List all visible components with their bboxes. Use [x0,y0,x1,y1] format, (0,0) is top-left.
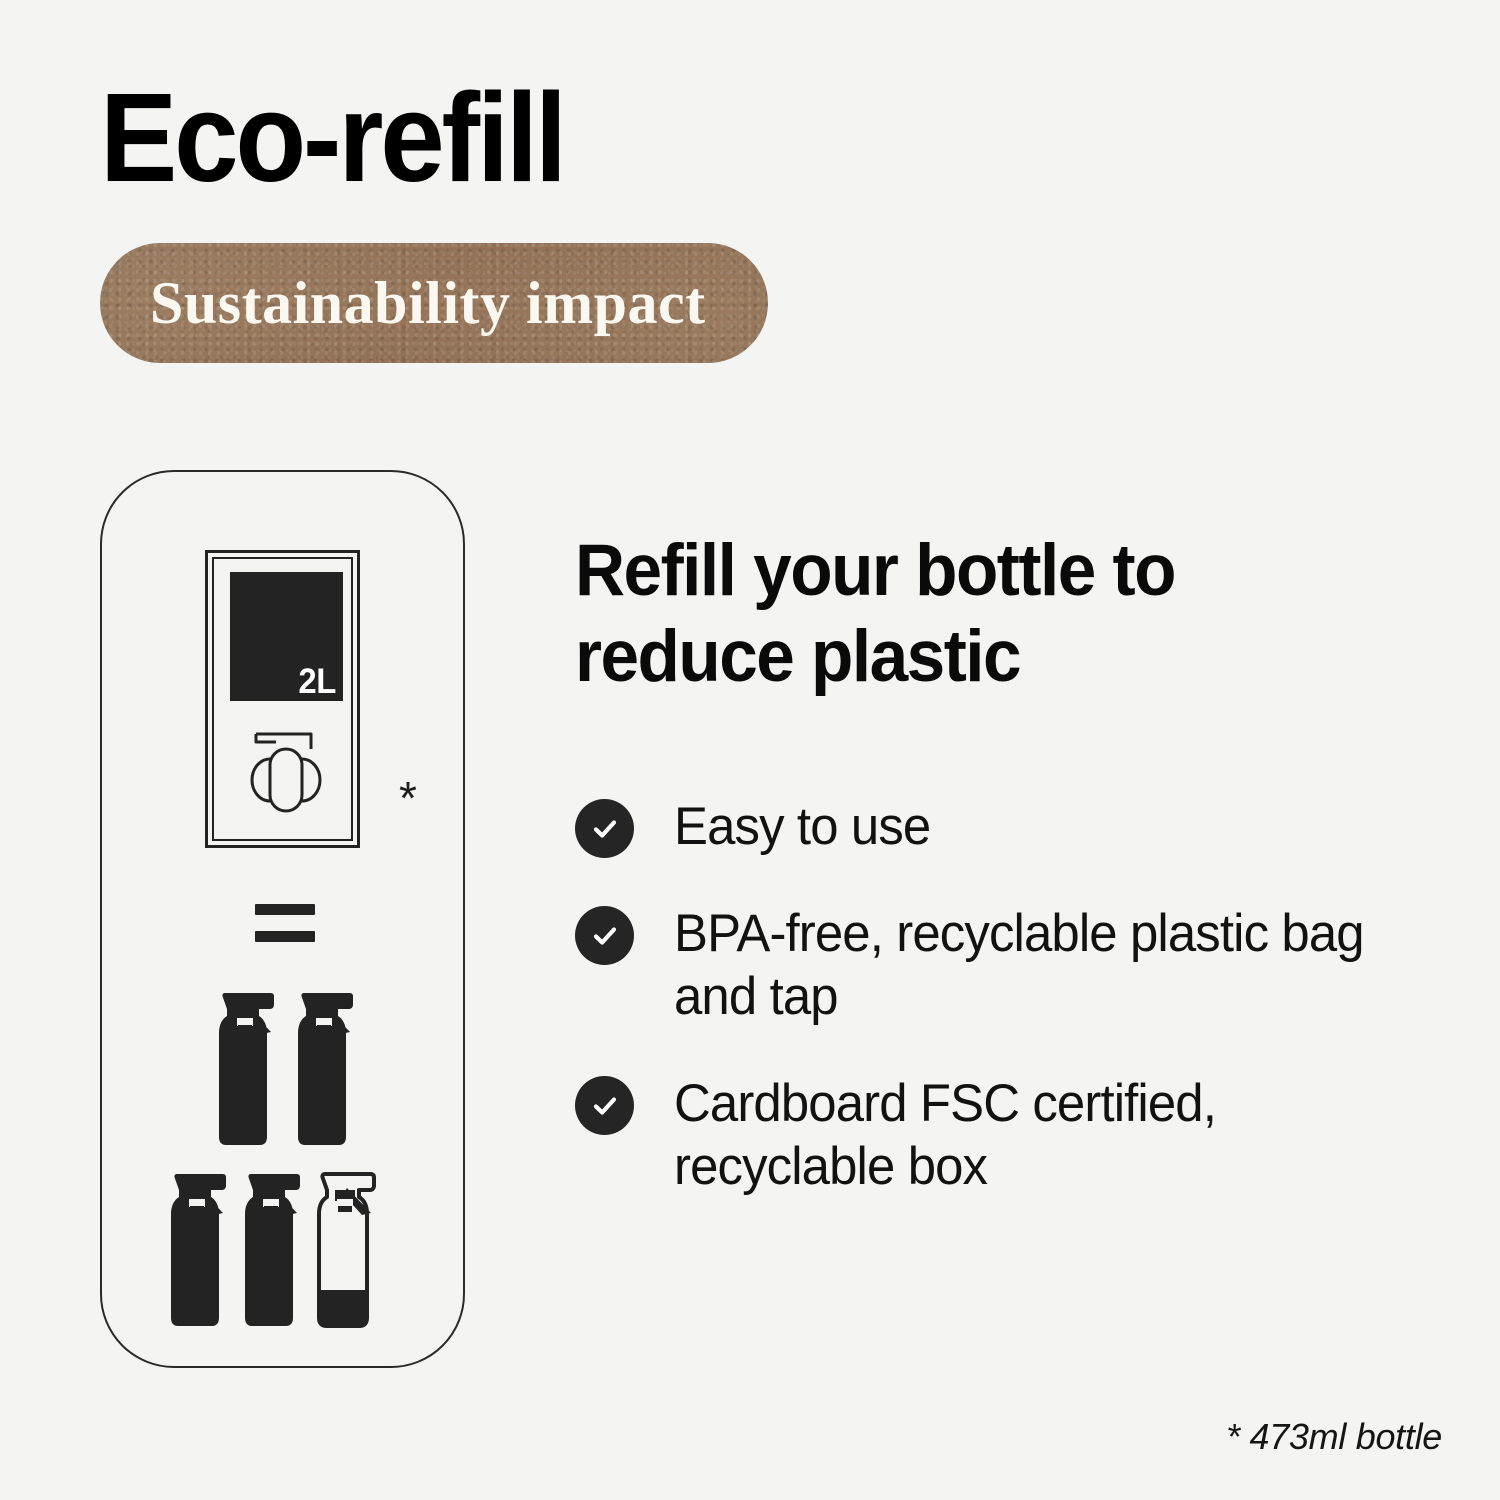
list-item: BPA-free, recyclable plastic bag and tap [575,902,1435,1028]
page-title: Eco-refill [100,72,564,204]
carton-label-block: 2L [230,572,343,701]
feature-label: Cardboard FSC certified, recyclable box [674,1072,1405,1198]
infographic-page: Eco-refill Sustainability impact 2L [0,0,1500,1500]
tap-spigot-icon [248,725,324,815]
illustration-panel: 2L [100,470,465,1368]
spray-bottle-icon [213,985,277,1148]
feature-list: Easy to use BPA-free, recyclable plastic… [575,795,1435,1198]
asterisk-marker: * [399,775,417,821]
carton-volume-label: 2L [299,664,336,699]
check-circle-icon [575,1076,634,1135]
equals-bar-bottom [255,931,315,942]
equals-bar-top [255,904,315,915]
badge-label: Sustainability impact [100,269,706,338]
sustainability-badge: Sustainability impact [100,243,768,363]
list-item: Easy to use [575,795,1435,858]
bottle-row-top [213,985,356,1148]
feature-label: Easy to use [674,795,930,858]
bottle-row-bottom [165,1166,377,1329]
headline: Refill your bottle to reduce plastic [575,528,1326,700]
refill-carton: 2L [205,550,360,848]
spray-bottle-icon [239,1166,303,1329]
footnote: * 473ml bottle [1226,1416,1442,1458]
feature-label: BPA-free, recyclable plastic bag and tap [674,902,1405,1028]
equals-symbol [255,904,315,942]
spray-bottle-icon [292,985,356,1148]
list-item: Cardboard FSC certified, recyclable box [575,1072,1435,1198]
check-circle-icon [575,799,634,858]
check-circle-icon [575,906,634,965]
spray-bottle-icon [165,1166,229,1329]
spray-bottle-partial-icon [313,1166,377,1329]
